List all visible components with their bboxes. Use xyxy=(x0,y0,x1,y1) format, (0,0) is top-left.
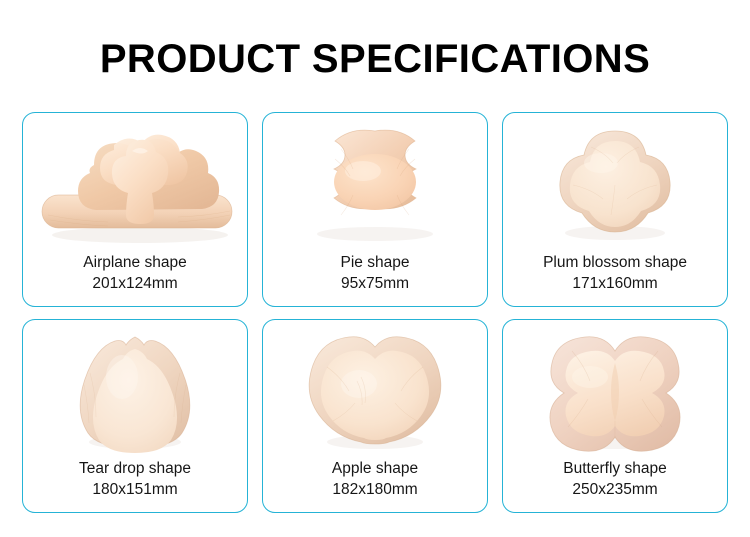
product-name: Tear drop shape xyxy=(23,458,247,479)
product-image-airplane xyxy=(23,113,247,252)
product-card-pie[interactable]: Pie shape 95x75mm xyxy=(262,112,488,307)
product-caption-pie: Pie shape 95x75mm xyxy=(263,252,487,306)
product-card-butterfly[interactable]: Butterfly shape 250x235mm xyxy=(502,319,728,514)
product-dimensions: 95x75mm xyxy=(263,273,487,294)
product-caption-apple: Apple shape 182x180mm xyxy=(263,458,487,512)
product-specifications-page: PRODUCT SPECIFICATIONS xyxy=(0,0,750,537)
product-image-plum-blossom xyxy=(503,113,727,252)
product-caption-airplane: Airplane shape 201x124mm xyxy=(23,252,247,306)
page-title: PRODUCT SPECIFICATIONS xyxy=(0,36,750,82)
product-dimensions: 180x151mm xyxy=(23,479,247,500)
product-card-plum-blossom[interactable]: Plum blossom shape 171x160mm xyxy=(502,112,728,307)
product-card-apple[interactable]: Apple shape 182x180mm xyxy=(262,319,488,514)
product-grid: Airplane shape 201x124mm xyxy=(22,112,728,513)
product-name: Airplane shape xyxy=(23,252,247,273)
product-name: Plum blossom shape xyxy=(503,252,727,273)
product-card-tear-drop[interactable]: Tear drop shape 180x151mm xyxy=(22,319,248,514)
product-dimensions: 171x160mm xyxy=(503,273,727,294)
product-name: Pie shape xyxy=(263,252,487,273)
product-dimensions: 201x124mm xyxy=(23,273,247,294)
product-caption-butterfly: Butterfly shape 250x235mm xyxy=(503,458,727,512)
product-card-airplane[interactable]: Airplane shape 201x124mm xyxy=(22,112,248,307)
product-dimensions: 182x180mm xyxy=(263,479,487,500)
product-caption-tear-drop: Tear drop shape 180x151mm xyxy=(23,458,247,512)
product-dimensions: 250x235mm xyxy=(503,479,727,500)
product-image-pie xyxy=(263,113,487,252)
product-name: Apple shape xyxy=(263,458,487,479)
product-image-butterfly xyxy=(503,320,727,459)
product-caption-plum-blossom: Plum blossom shape 171x160mm xyxy=(503,252,727,306)
product-image-tear-drop xyxy=(23,320,247,459)
product-name: Butterfly shape xyxy=(503,458,727,479)
product-image-apple xyxy=(263,320,487,459)
